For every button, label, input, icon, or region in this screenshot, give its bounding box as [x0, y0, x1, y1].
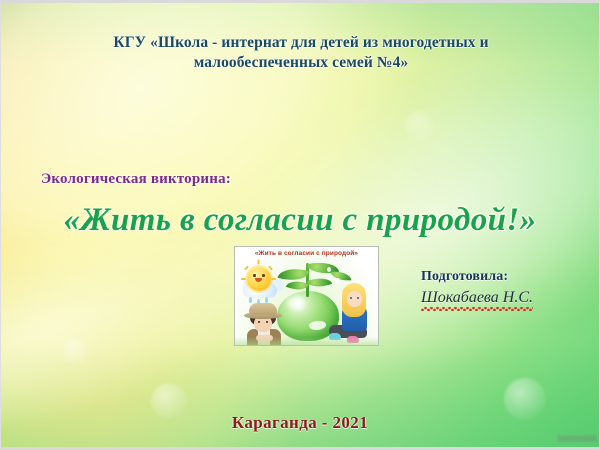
- dewdrop-icon: [327, 267, 331, 272]
- background-bubble: [405, 111, 435, 141]
- author-name: Шокабаева Н.С.: [421, 289, 533, 306]
- illustration-ground: [235, 337, 378, 345]
- city-year: Караганда - 2021: [1, 413, 599, 433]
- author-label: Подготовила:: [421, 269, 533, 285]
- school-title-line-1: КГУ «Школа - интернат для детей из много…: [59, 33, 543, 53]
- author-block: Подготовила: Шокабаева Н.С.: [421, 269, 533, 310]
- girl-face: [347, 291, 362, 307]
- background-bubble: [63, 339, 89, 365]
- sun-eye: [253, 274, 256, 277]
- watermark: ·························: [557, 435, 597, 442]
- school-title: КГУ «Школа - интернат для детей из много…: [59, 33, 543, 74]
- sun-eye: [262, 274, 265, 277]
- illustration-image[interactable]: «Жить в согласии с природой»: [234, 246, 379, 346]
- author-name-wrapper: Шокабаева Н.С.: [421, 289, 533, 310]
- spellcheck-underline: [421, 307, 533, 311]
- sun-ray-icon: [271, 278, 276, 280]
- illustration-caption: «Жить в согласии с природой»: [235, 250, 378, 257]
- school-title-line-2: малообеспеченных семей №4»: [59, 53, 543, 73]
- dewdrop-icon: [336, 278, 340, 283]
- main-title: «Жить в согласии с природой!»: [1, 202, 599, 239]
- presentation-slide: КГУ «Школа - интернат для детей из много…: [0, 0, 600, 450]
- boy-hat: [249, 303, 277, 315]
- globe-shine: [287, 297, 305, 309]
- raindrop-icon: [249, 297, 252, 303]
- sun-ray-icon: [241, 278, 246, 280]
- sun-ray-icon: [258, 260, 260, 265]
- quiz-label: Экологическая викторина:: [41, 171, 231, 188]
